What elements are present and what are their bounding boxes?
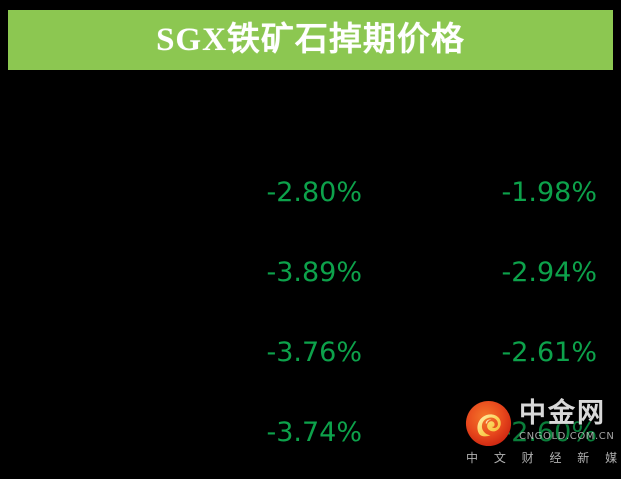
table-row: -3.89% -2.94%	[0, 256, 621, 336]
table-row: -3.76% -2.61%	[0, 336, 621, 416]
table-row: -3.74% -2.60%	[0, 416, 621, 479]
pct-value-row1-left: -2.80%	[182, 176, 362, 210]
price-change-grid: -2.80% -1.98% -3.89% -2.94% -3.76% -2.61…	[0, 176, 621, 479]
pct-value-row3-left: -3.76%	[182, 336, 362, 370]
pct-value-row4-right: -2.60%	[417, 416, 597, 450]
pct-value-row1-right: -1.98%	[417, 176, 597, 210]
pct-value-row3-right: -2.61%	[417, 336, 597, 370]
pct-value-row4-left: -3.74%	[182, 416, 362, 450]
header-banner: SGX铁矿石掉期价格	[8, 10, 613, 70]
pct-value-row2-left: -3.89%	[182, 256, 362, 290]
screenshot-canvas: SGX铁矿石掉期价格 -2.80% -1.98% -3.89% -2.94% -…	[0, 0, 621, 479]
page-title: SGX铁矿石掉期价格	[156, 24, 465, 57]
pct-value-row2-right: -2.94%	[417, 256, 597, 290]
table-row: -2.80% -1.98%	[0, 176, 621, 256]
